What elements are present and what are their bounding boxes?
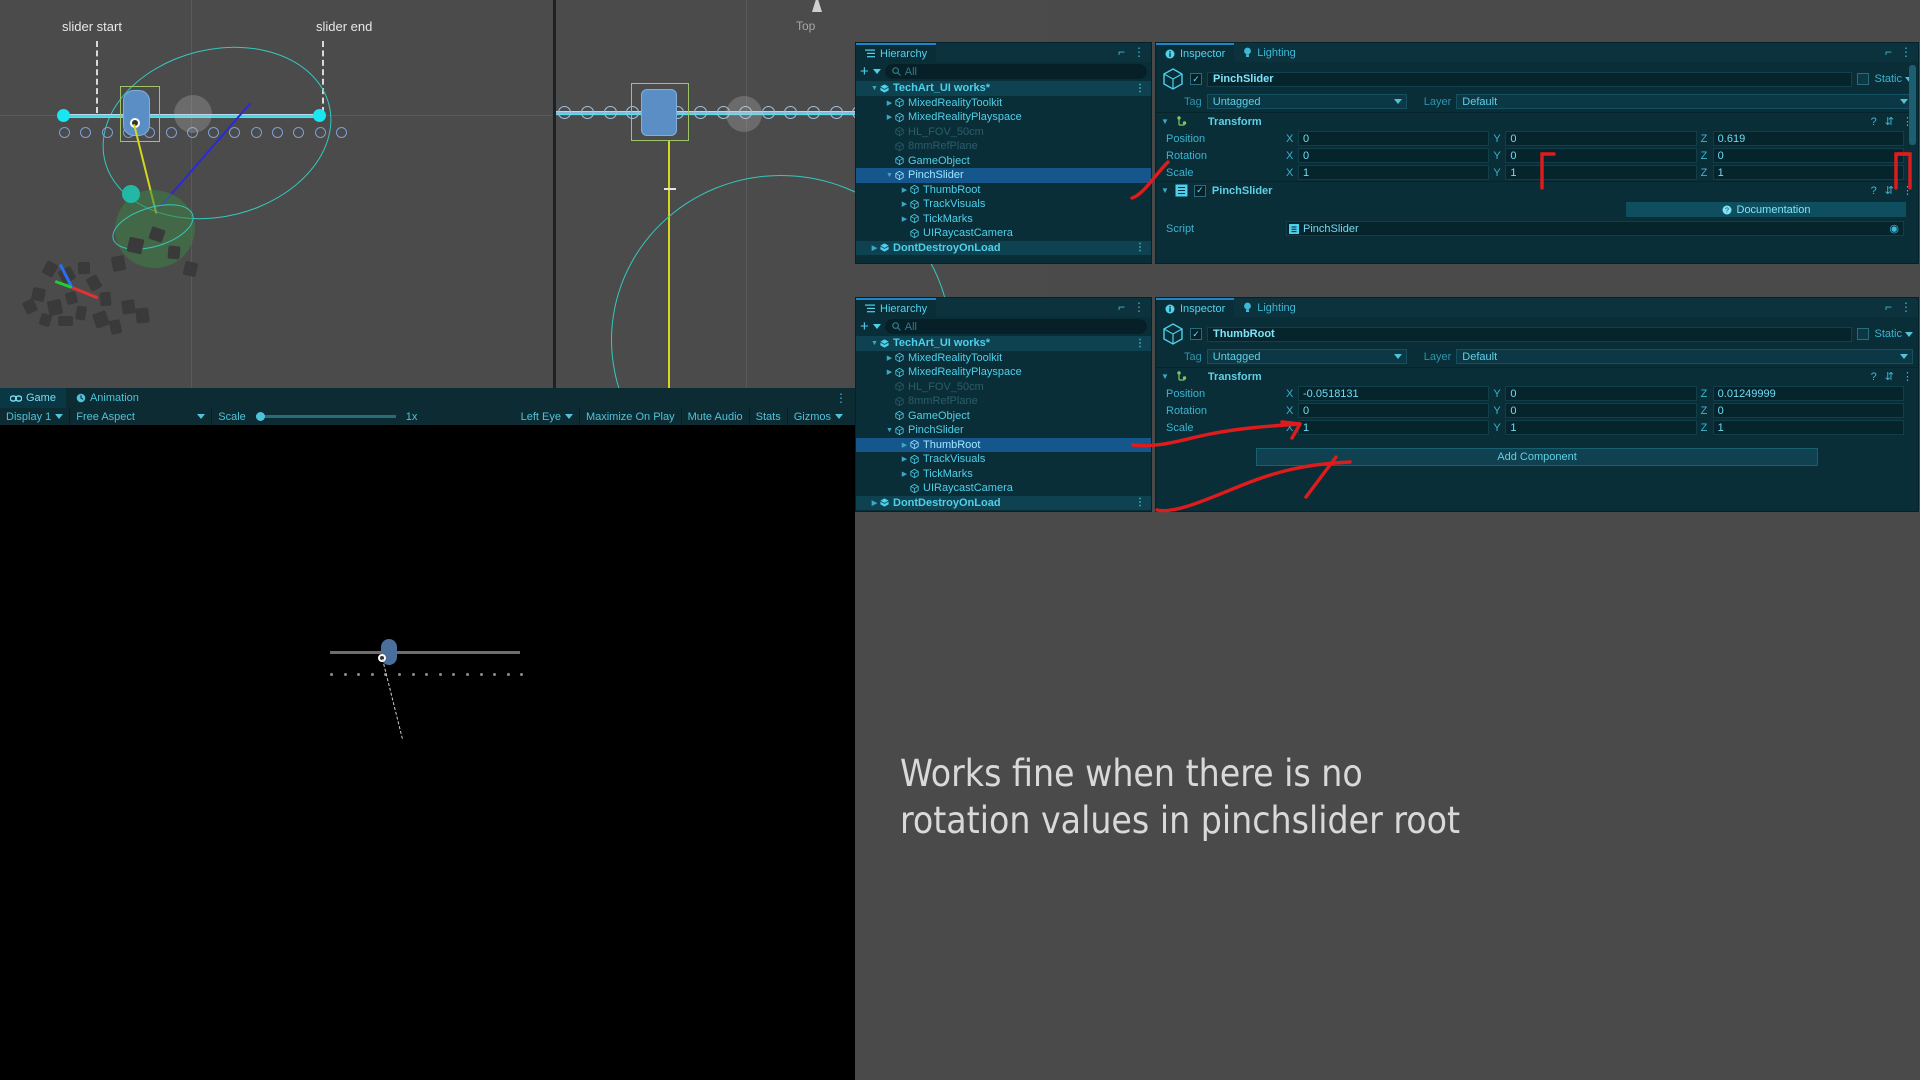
hierarchy-row-label: DontDestroyOnLoad (893, 497, 1001, 509)
hierarchy-row-8mmrefplane[interactable]: 8mmRefPlane (856, 139, 1151, 154)
rendered-pointer-ray (382, 659, 403, 739)
scale-slider-knob[interactable] (256, 412, 265, 421)
transform-row-scale: Scale X 1 Y 1 Z 1 (1156, 164, 1918, 181)
hierarchy-row-trackvisuals[interactable]: ▶ TrackVisuals (856, 452, 1151, 467)
hierarchy-toolbar: + All (856, 62, 1151, 81)
hierarchy-row-hl-fov-50cm[interactable]: HL_FOV_50cm (856, 125, 1151, 140)
rotation-z-input[interactable]: 0 (1713, 403, 1904, 418)
transform-fields-bottom[interactable]: Position X -0.0518131 Y 0 Z 0.01249999 R… (1156, 385, 1918, 436)
transform-row-label: Scale (1156, 422, 1286, 434)
scene-view-perspective[interactable]: slider start slider end (0, 0, 552, 388)
hierarchy-row-label: ThumbRoot (923, 184, 980, 196)
gameobject-icon (894, 112, 905, 123)
slider-start-endcap (57, 109, 70, 122)
kebab-menu-icon[interactable]: ⋮ (1133, 45, 1145, 59)
scale-slider[interactable] (256, 415, 396, 418)
transform-row-rotation: Rotation X 0 Y 0 Z 0 (1156, 147, 1918, 164)
hierarchy-row-label: DontDestroyOnLoad (893, 242, 1001, 254)
axis-label-z: Z (1701, 405, 1709, 417)
foldout-arrow-icon[interactable]: ▼ (1161, 186, 1169, 195)
unity-scene-icon (879, 338, 890, 349)
help-icon[interactable]: ? (1871, 116, 1877, 128)
eye-dropdown[interactable]: Left Eye (515, 408, 580, 425)
aspect-dropdown[interactable]: Free Aspect (70, 408, 212, 425)
transform-row-label: Rotation (1156, 150, 1286, 162)
gameobject-icon (909, 454, 920, 465)
object-name-input[interactable]: PinchSlider (1207, 72, 1852, 87)
twisty-icon[interactable]: ▶ (900, 200, 909, 208)
view-orientation-gizmo-label[interactable]: Top (796, 19, 815, 33)
script-value: PinchSlider (1303, 223, 1359, 235)
transform-component-header[interactable]: ▼ Transform ? ⇵ ⋮ (1156, 112, 1918, 130)
tab-hierarchy-label: Hierarchy (880, 303, 927, 315)
game-render-canvas[interactable] (0, 425, 855, 1080)
hierarchy-row-mixedrealitytoolkit[interactable]: ▶ MixedRealityToolkit (856, 351, 1151, 366)
teal-hand-joint-sphere (122, 185, 140, 203)
game-panel: Game Animation ⋮ Display 1 Free Aspect (0, 388, 855, 1080)
gameobject-icon (909, 228, 920, 239)
tag-label: Tag (1184, 96, 1202, 108)
chevron-down-icon (1900, 354, 1908, 359)
inspector-tabbar: Inspector Lighting ⌐ ⋮ (1156, 298, 1918, 317)
tag-label: Tag (1184, 351, 1202, 363)
preset-icon[interactable]: ⇵ (1885, 370, 1894, 383)
gameobject-icon (909, 213, 920, 224)
hierarchy-row-label: PinchSlider (908, 169, 964, 181)
component-enabled-checkbox[interactable]: ✓ (1194, 185, 1206, 197)
hierarchy-search-input[interactable]: All (885, 64, 1147, 79)
twisty-icon[interactable]: ▼ (870, 85, 879, 92)
game-controller-icon (10, 394, 22, 403)
static-checkbox[interactable] (1857, 73, 1869, 85)
annotation-line-2: rotation values in pinchslider root (900, 797, 1600, 844)
position-y-input[interactable]: 0 (1505, 131, 1696, 146)
twisty-icon[interactable]: ▶ (885, 368, 894, 376)
add-object-button[interactable]: + (860, 319, 869, 334)
object-enabled-checkbox[interactable]: ✓ (1190, 328, 1202, 340)
transform-row-label: Position (1156, 133, 1286, 145)
hierarchy-row-8mmrefplane[interactable]: 8mmRefPlane (856, 394, 1151, 409)
layer-value: Default (1462, 96, 1497, 108)
help-icon[interactable]: ? (1871, 371, 1877, 383)
twisty-icon[interactable]: ▶ (900, 455, 909, 463)
transform-icon (1175, 115, 1188, 128)
eye-dropdown-label: Left Eye (521, 411, 561, 423)
mute-audio-toggle[interactable]: Mute Audio (682, 408, 750, 425)
transform-fields-top[interactable]: Position X 0 Y 0 Z 0.619 Rotation X 0 Y … (1156, 130, 1918, 181)
transform-title: Transform (1208, 116, 1262, 128)
transform-row-rotation: Rotation X 0 Y 0 Z 0 (1156, 402, 1918, 419)
rotation-z-input[interactable]: 0 (1713, 148, 1904, 163)
hierarchy-row-tickmarks[interactable]: ▶ TickMarks (856, 212, 1151, 227)
axis-label-z: Z (1701, 150, 1709, 162)
static-label: Static (1874, 328, 1902, 340)
hierarchy-row-hl-fov-50cm[interactable]: HL_FOV_50cm (856, 380, 1151, 395)
layer-dropdown[interactable]: Default (1456, 94, 1913, 109)
rotation-x-input[interactable]: 0 (1298, 148, 1489, 163)
chevron-down-icon[interactable] (873, 324, 881, 329)
hierarchy-row-uiraycastcamera[interactable]: UIRaycastCamera (856, 481, 1151, 496)
static-checkbox[interactable] (1857, 328, 1869, 340)
static-dropdown[interactable]: Static (1874, 73, 1913, 85)
twisty-icon[interactable]: ▼ (885, 172, 894, 179)
transform-row-scale: Scale X 1 Y 1 Z 1 (1156, 419, 1918, 436)
hierarchy-toolbar: + All (856, 317, 1151, 336)
gameobject-icon (909, 184, 920, 195)
kebab-menu-icon[interactable]: ⋮ (1900, 300, 1912, 314)
hierarchy-row-label: PinchSlider (908, 424, 964, 436)
layer-value: Default (1462, 351, 1497, 363)
gameobject-icon (894, 381, 905, 392)
gameobject-icon (894, 367, 905, 378)
gizmos-dropdown[interactable]: Gizmos (788, 408, 855, 425)
hierarchy-row-label: UIRaycastCamera (923, 227, 1013, 239)
script-object-field[interactable]: PinchSlider ◉ (1286, 221, 1904, 236)
axis-label-z: Z (1701, 388, 1709, 400)
pinchslider-component-header[interactable]: ▼ ✓ PinchSlider ? ⇵ ⋮ (1156, 181, 1918, 199)
twisty-icon[interactable]: ▶ (900, 215, 909, 223)
axis-label-y: Y (1493, 422, 1501, 434)
chevron-down-icon (565, 414, 573, 419)
gameobject-icon (909, 199, 920, 210)
slider-start-marker (96, 41, 98, 113)
hierarchy-row-gameobject[interactable]: GameObject (856, 409, 1151, 424)
gizmos-label: Gizmos (794, 411, 831, 423)
twisty-icon[interactable]: ▼ (870, 340, 879, 347)
rotation-y-input[interactable]: 0 (1505, 403, 1696, 418)
twisty-icon[interactable]: ▶ (900, 186, 909, 194)
chevron-down-icon (197, 414, 205, 419)
transform-icon (1175, 370, 1188, 383)
stats-toggle[interactable]: Stats (750, 408, 788, 425)
hierarchy-row-tickmarks[interactable]: ▶ TickMarks (856, 467, 1151, 482)
hierarchy-row-dontdestroyonload[interactable]: ▶ DontDestroyOnLoad⋮ (856, 496, 1151, 511)
transform-component-header[interactable]: ▼ Transform ? ⇵ ⋮ (1156, 367, 1918, 385)
axis-label-x: X (1286, 388, 1294, 400)
hierarchy-row-pinchslider[interactable]: ▼ PinchSlider (856, 423, 1151, 438)
hierarchy-row-label: TrackVisuals (923, 453, 985, 465)
transform-row-label: Position (1156, 388, 1286, 400)
gameobject-icon (909, 483, 920, 494)
tab-hierarchy[interactable]: Hierarchy (856, 43, 936, 62)
view-cone-gizmo (806, 0, 828, 18)
tab-inspector[interactable]: Inspector (1156, 43, 1234, 62)
twisty-icon[interactable]: ▶ (870, 499, 879, 507)
help-circle-icon: ? (1722, 205, 1732, 215)
hierarchy-row-label: 8mmRefPlane (908, 395, 978, 407)
unity-scene-icon (879, 83, 890, 94)
row-kebab-icon[interactable]: ⋮ (1135, 497, 1145, 508)
hierarchy-row-techart-ui-works-[interactable]: ▼ TechArt_UI works*⋮ (856, 336, 1151, 351)
object-enabled-checkbox[interactable]: ✓ (1190, 73, 1202, 85)
hierarchy-tabbar: Hierarchy ⌐ ⋮ (856, 43, 1151, 62)
hierarchy-row-uiraycastcamera[interactable]: UIRaycastCamera (856, 226, 1151, 241)
axis-label-x: X (1286, 405, 1294, 417)
aspect-dropdown-label: Free Aspect (76, 411, 135, 423)
display-dropdown[interactable]: Display 1 (0, 408, 70, 425)
chevron-down-icon (1900, 99, 1908, 104)
hierarchy-row-label: GameObject (908, 410, 970, 422)
hierarchy-row-mixedrealityplayspace[interactable]: ▶ MixedRealityPlayspace (856, 110, 1151, 125)
static-label: Static (1874, 73, 1902, 85)
annotation-line-1: Works fine when there is no (900, 750, 1600, 797)
hierarchy-icon (865, 49, 875, 58)
position-z-input[interactable]: 0.619 (1713, 131, 1904, 146)
scale-value: 1x (406, 411, 418, 423)
preset-icon[interactable]: ⇵ (1885, 115, 1894, 128)
lock-icon[interactable]: ⌐ (1885, 300, 1892, 314)
inspector-tag-layer-row: Tag Untagged Layer Default (1156, 93, 1918, 112)
row-kebab-icon[interactable]: ⋮ (1135, 338, 1145, 349)
unity-scene-icon (879, 497, 890, 508)
tab-game[interactable]: Game (0, 388, 66, 408)
layer-label: Layer (1424, 96, 1452, 108)
axis-label-x: X (1286, 422, 1294, 434)
rendered-slider-track (330, 651, 520, 654)
hierarchy-panel-top: Hierarchy ⌐ ⋮ + All ▼ TechArt_UI works*⋮ (855, 42, 1152, 264)
kebab-menu-icon[interactable]: ⋮ (1902, 370, 1913, 383)
gameobject-icon (909, 468, 920, 479)
game-panel-kebab-icon[interactable]: ⋮ (835, 391, 847, 405)
axis-label-y: Y (1493, 150, 1501, 162)
row-kebab-icon[interactable]: ⋮ (1135, 242, 1145, 253)
inspector-scrollbar-track[interactable] (1910, 63, 1917, 263)
gameobject-icon (909, 439, 920, 450)
inspector-tag-layer-row: Tag Untagged Layer Default (1156, 348, 1918, 367)
tab-game-label: Game (26, 392, 56, 404)
slider-start-label: slider start (62, 19, 122, 34)
hierarchy-panel-bottom: Hierarchy ⌐ ⋮ + All ▼ TechArt_UI works*⋮ (855, 297, 1152, 512)
tab-lighting[interactable]: Lighting (1234, 43, 1305, 62)
scale-x-input[interactable]: 1 (1298, 420, 1489, 435)
axis-label-x: X (1286, 133, 1294, 145)
layer-dropdown[interactable]: Default (1456, 349, 1913, 364)
hierarchy-row-thumbroot[interactable]: ▶ ThumbRoot (856, 438, 1151, 453)
hierarchy-row-label: TechArt_UI works* (893, 337, 990, 349)
hierarchy-search-input[interactable]: All (885, 319, 1147, 334)
inspector-panel-bottom: Inspector Lighting ⌐ ⋮ ✓ ThumbRoot (1155, 297, 1919, 512)
tab-animation-label: Animation (90, 392, 139, 404)
twisty-icon[interactable]: ▼ (885, 427, 894, 434)
tab-lighting[interactable]: Lighting (1234, 298, 1305, 317)
tab-inspector-label: Inspector (1180, 48, 1225, 60)
gameobject-icon (894, 170, 905, 181)
tab-hierarchy-label: Hierarchy (880, 48, 927, 60)
hierarchy-row-label: HL_FOV_50cm (908, 126, 984, 138)
row-kebab-icon[interactable]: ⋮ (1135, 83, 1145, 94)
hierarchy-row-pinchslider[interactable]: ▼ PinchSlider (856, 168, 1151, 183)
search-icon (892, 322, 901, 331)
axis-label-y: Y (1493, 133, 1501, 145)
inspector-tabbar: Inspector Lighting ⌐ ⋮ (1156, 43, 1918, 62)
gameobject-icon (1161, 67, 1185, 91)
axis-label-y: Y (1493, 405, 1501, 417)
scale-y-input[interactable]: 1 (1505, 165, 1696, 180)
transform-row-label: Scale (1156, 167, 1286, 179)
annotation-text: Works fine when there is no rotation val… (900, 750, 1600, 845)
position-x-input[interactable]: -0.0518131 (1298, 386, 1489, 401)
hierarchy-row-label: GameObject (908, 155, 970, 167)
chevron-down-icon (1394, 99, 1402, 104)
hierarchy-row-label: MixedRealityToolkit (908, 97, 1002, 109)
slider-end-label: slider end (316, 19, 372, 34)
maximize-on-play-label: Maximize On Play (586, 411, 675, 423)
foldout-arrow-icon[interactable]: ▼ (1161, 117, 1169, 126)
ghost-handle (726, 96, 762, 132)
tab-lighting-label: Lighting (1257, 302, 1296, 314)
hierarchy-tabbar: Hierarchy ⌐ ⋮ (856, 298, 1151, 317)
twisty-icon[interactable]: ▶ (885, 99, 894, 107)
hierarchy-row-label: TickMarks (923, 213, 973, 225)
object-picker-icon[interactable]: ◉ (1889, 222, 1899, 235)
scale-z-input[interactable]: 1 (1713, 165, 1904, 180)
search-icon (892, 67, 901, 76)
inspector-panel-top: Inspector Lighting ⌐ ⋮ ✓ PinchSlider (1155, 42, 1919, 264)
tag-dropdown[interactable]: Untagged (1207, 349, 1407, 364)
stats-label: Stats (756, 411, 781, 423)
twisty-icon[interactable]: ▶ (870, 244, 879, 252)
tag-value: Untagged (1213, 351, 1261, 363)
hierarchy-row-label: ThumbRoot (923, 439, 980, 451)
documentation-label: Documentation (1737, 204, 1811, 216)
ghost-handle (174, 95, 212, 133)
tag-dropdown[interactable]: Untagged (1207, 94, 1407, 109)
hierarchy-row-techart-ui-works-[interactable]: ▼ TechArt_UI works*⋮ (856, 81, 1151, 96)
game-panel-toolbar: Display 1 Free Aspect Scale 1x Left Eye (0, 408, 855, 425)
hierarchy-row-label: MixedRealityToolkit (908, 352, 1002, 364)
hierarchy-row-label: MixedRealityPlayspace (908, 366, 1022, 378)
position-z-input[interactable]: 0.01249999 (1713, 386, 1904, 401)
chevron-down-icon (55, 414, 63, 419)
chevron-down-icon[interactable] (873, 69, 881, 74)
hierarchy-row-dontdestroyonload[interactable]: ▶ DontDestroyOnLoad⋮ (856, 241, 1151, 256)
hierarchy-tree-bottom[interactable]: ▼ TechArt_UI works*⋮ ▶ MixedRealityToolk… (856, 336, 1151, 510)
hierarchy-row-thumbroot[interactable]: ▶ ThumbRoot (856, 183, 1151, 198)
kebab-menu-icon[interactable]: ⋮ (1133, 300, 1145, 314)
scale-y-input[interactable]: 1 (1505, 420, 1696, 435)
add-object-button[interactable]: + (860, 64, 869, 79)
lock-icon[interactable]: ⌐ (1118, 45, 1125, 59)
twisty-icon[interactable]: ▶ (900, 470, 909, 478)
mute-audio-label: Mute Audio (688, 411, 743, 423)
selection-bounds-box (631, 83, 689, 141)
tab-inspector[interactable]: Inspector (1156, 298, 1234, 317)
hierarchy-row-label: TrackVisuals (923, 198, 985, 210)
twisty-icon[interactable]: ▶ (885, 354, 894, 362)
hierarchy-row-trackvisuals[interactable]: ▶ TrackVisuals (856, 197, 1151, 212)
game-panel-tabstrip: Game Animation ⋮ (0, 388, 855, 408)
position-y-input[interactable]: 0 (1505, 386, 1696, 401)
gameobject-icon (894, 352, 905, 363)
hierarchy-row-mixedrealitytoolkit[interactable]: ▶ MixedRealityToolkit (856, 96, 1151, 111)
hierarchy-search-placeholder: All (905, 321, 917, 333)
foldout-arrow-icon[interactable]: ▼ (1161, 372, 1169, 381)
svg-text:?: ? (1725, 207, 1729, 214)
transform-row-position: Position X -0.0518131 Y 0 Z 0.01249999 (1156, 385, 1918, 402)
add-component-button[interactable]: Add Component (1256, 448, 1818, 466)
inspector-object-header: ✓ PinchSlider Static (1156, 62, 1918, 93)
info-icon (1165, 304, 1175, 314)
axis-label-y: Y (1493, 167, 1501, 179)
tab-lighting-label: Lighting (1257, 47, 1296, 59)
chevron-down-icon (1394, 354, 1402, 359)
documentation-button[interactable]: ? Documentation (1626, 202, 1906, 217)
unity-scene-icon (879, 242, 890, 253)
ray-tick (664, 188, 676, 190)
preset-icon[interactable]: ⇵ (1885, 184, 1894, 197)
pinchslider-title: PinchSlider (1212, 185, 1273, 197)
axis-label-z: Z (1701, 133, 1709, 145)
gameobject-icon (1161, 322, 1185, 346)
display-dropdown-label: Display 1 (6, 411, 51, 423)
gameobject-icon (894, 155, 905, 166)
kebab-menu-icon[interactable]: ⋮ (1900, 45, 1912, 59)
gameobject-icon (894, 396, 905, 407)
hierarchy-icon (865, 304, 875, 313)
axis-label-x: X (1286, 150, 1294, 162)
hierarchy-row-gameobject[interactable]: GameObject (856, 154, 1151, 169)
chevron-down-icon (1905, 332, 1913, 337)
gameobject-icon (894, 141, 905, 152)
inspector-scrollbar-thumb[interactable] (1909, 65, 1916, 145)
hierarchy-row-label: MixedRealityPlayspace (908, 111, 1022, 123)
gameobject-icon (894, 410, 905, 421)
info-icon (1165, 49, 1175, 59)
hierarchy-row-mixedrealityplayspace[interactable]: ▶ MixedRealityPlayspace (856, 365, 1151, 380)
clock-icon (76, 393, 86, 403)
hierarchy-row-label: TechArt_UI works* (893, 82, 990, 94)
scale-x-input[interactable]: 1 (1298, 165, 1489, 180)
maximize-on-play-toggle[interactable]: Maximize On Play (580, 408, 682, 425)
script-field-row: Script PinchSlider ◉ (1156, 220, 1918, 237)
scale-z-input[interactable]: 1 (1713, 420, 1904, 435)
axis-label-y: Y (1493, 388, 1501, 400)
hierarchy-row-label: HL_FOV_50cm (908, 381, 984, 393)
chevron-down-icon (835, 414, 843, 419)
scale-label: Scale (218, 411, 246, 423)
help-icon[interactable]: ? (1871, 185, 1877, 197)
static-dropdown[interactable]: Static (1874, 328, 1913, 340)
tab-inspector-label: Inspector (1180, 303, 1225, 315)
inspector-object-header: ✓ ThumbRoot Static (1156, 317, 1918, 348)
rotation-x-input[interactable]: 0 (1298, 403, 1489, 418)
script-label: Script (1156, 223, 1286, 235)
transform-row-position: Position X 0 Y 0 Z 0.619 (1156, 130, 1918, 147)
script-asset-icon (1289, 224, 1299, 234)
gameobject-icon (894, 97, 905, 108)
tab-animation[interactable]: Animation (66, 388, 149, 408)
transform-title: Transform (1208, 371, 1262, 383)
position-x-input[interactable]: 0 (1298, 131, 1489, 146)
add-component-row: Add Component (1156, 436, 1918, 466)
lock-icon[interactable]: ⌐ (1118, 300, 1125, 314)
script-icon (1175, 184, 1188, 197)
layer-label: Layer (1424, 351, 1452, 363)
tab-hierarchy[interactable]: Hierarchy (856, 298, 936, 317)
lock-icon[interactable]: ⌐ (1885, 45, 1892, 59)
axis-label-z: Z (1701, 422, 1709, 434)
hierarchy-row-label: 8mmRefPlane (908, 140, 978, 152)
twisty-icon[interactable]: ▶ (885, 113, 894, 121)
gameobject-icon (894, 425, 905, 436)
rotation-y-input[interactable]: 0 (1505, 148, 1696, 163)
object-name-input[interactable]: ThumbRoot (1207, 327, 1852, 342)
slider-end-endcap (313, 109, 326, 122)
twisty-icon[interactable]: ▶ (900, 441, 909, 449)
hierarchy-tree-top[interactable]: ▼ TechArt_UI works*⋮ ▶ MixedRealityToolk… (856, 81, 1151, 255)
hierarchy-search-placeholder: All (905, 66, 917, 78)
scale-slider-group[interactable]: Scale 1x (212, 408, 423, 425)
